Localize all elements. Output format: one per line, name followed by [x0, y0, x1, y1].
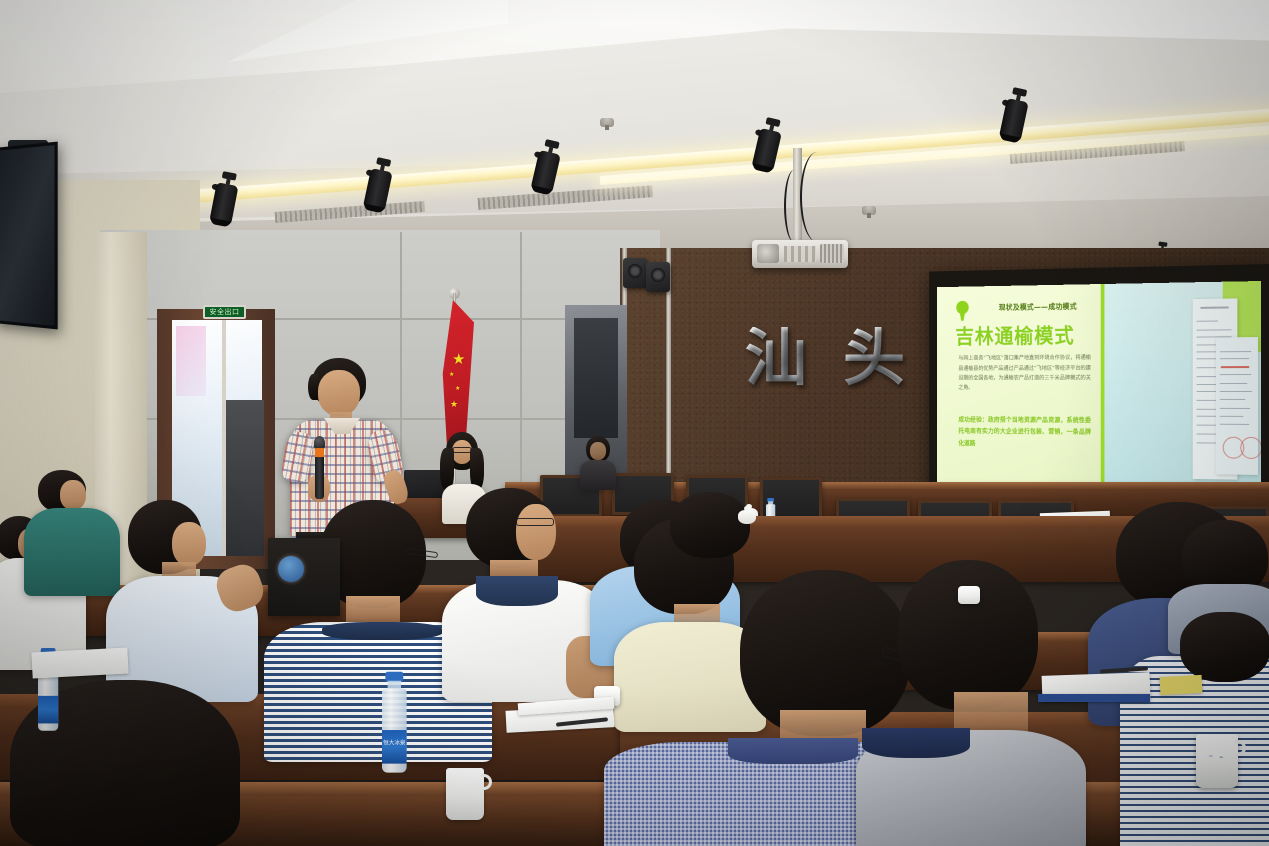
background-attendee	[578, 436, 618, 486]
notebook-cover[interactable]	[1038, 694, 1150, 702]
sticky-note[interactable]	[1160, 675, 1203, 695]
tea-mug[interactable]	[1196, 734, 1238, 788]
projector-lens-icon	[757, 244, 779, 263]
wall-speaker-icon	[646, 262, 670, 292]
polo-collar	[476, 576, 558, 606]
shirt-collar	[322, 622, 442, 640]
lectern-emblem	[278, 556, 304, 582]
exit-sign-label: 安全出口	[210, 307, 240, 317]
slide-title: 吉林通榆模式	[955, 320, 1074, 350]
eyeglasses-icon	[516, 518, 554, 526]
projector-vent-icon	[820, 244, 844, 263]
projector-cable	[784, 170, 804, 242]
tea-mug[interactable]	[446, 768, 484, 820]
slide-right-panel	[1104, 281, 1261, 497]
wall-char-2: 头	[843, 327, 905, 389]
shirt-collar	[728, 738, 858, 764]
projected-slide: 现状及模式——成功模式 吉林通榆模式 与网上商务“飞地区”落口集产地直到环境合作…	[937, 281, 1261, 497]
red-seal-icon	[1240, 436, 1261, 458]
rear-doorway-opening	[574, 318, 618, 438]
attendee-back-row	[1180, 612, 1269, 732]
flag-star-icon: ★	[455, 386, 460, 392]
attendee-grey-navy-polo	[884, 560, 1094, 846]
projector-cable	[800, 152, 834, 242]
slide-highlight-text: 成功经验：政府搭个当地资源产品资源，系统性委托电商有实力的大企业进行包装、营销，…	[958, 414, 1091, 451]
lectern[interactable]	[268, 538, 340, 616]
lightbulb-icon	[955, 301, 969, 322]
slide-body-text: 与网上商务“飞地区”落口集产地直到环境合作协议，将通榆县通榆县的优势产品通过产品…	[958, 353, 1091, 393]
exit-sign: 安全出口	[203, 305, 246, 319]
sprinkler-icon	[862, 206, 876, 215]
flag-star-icon: ★	[450, 400, 458, 409]
bottle-brand-label: 恒大冰泉	[383, 739, 405, 747]
lidded-teacup[interactable]	[738, 510, 756, 524]
slide-document-scan	[1216, 337, 1258, 475]
conference-hall-scene: 安全出口 汕 头	[0, 0, 1269, 846]
venue-wall-signage: 汕 头	[745, 318, 920, 398]
sprinkler-icon	[600, 118, 614, 127]
mug-floral-pattern	[1203, 750, 1229, 762]
notebook[interactable]	[31, 648, 128, 679]
polo-collar	[862, 728, 970, 758]
wall-char-1: 汕	[745, 327, 807, 389]
microphone-body[interactable]	[315, 457, 324, 499]
document-heading	[1200, 306, 1228, 308]
wall-monitor[interactable]	[0, 142, 58, 330]
attendee-back-row	[660, 492, 756, 562]
flag-star-icon: ★	[452, 352, 465, 367]
projector-controls[interactable]	[784, 246, 816, 262]
wall-speaker-icon	[623, 258, 647, 288]
flag-star-icon: ★	[449, 372, 454, 378]
tea-mug[interactable]	[958, 586, 980, 604]
slide-header: 现状及模式——成功模式	[999, 301, 1077, 313]
water-bottle[interactable]: 恒大冰泉	[382, 672, 434, 823]
